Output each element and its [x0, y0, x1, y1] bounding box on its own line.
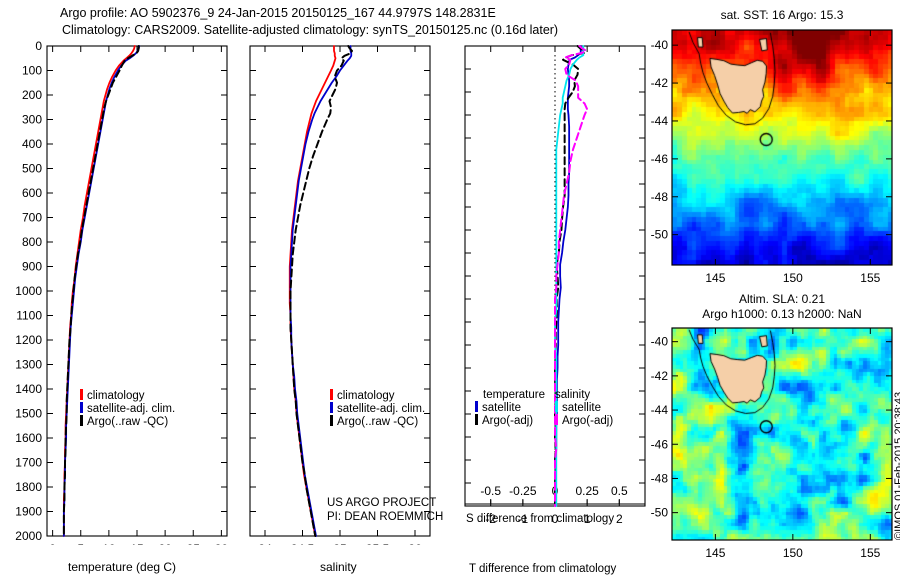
- svg-text:-42: -42: [651, 76, 669, 90]
- legend-swatch-sal-satellite: [555, 401, 558, 412]
- svg-text:155: 155: [860, 546, 880, 560]
- sla-map-title-line1: Altim. SLA: 0.21: [672, 292, 892, 306]
- svg-text:0: 0: [35, 40, 42, 53]
- legend-swatch-sal-argo-adj: [555, 414, 558, 425]
- svg-text:500: 500: [22, 162, 42, 176]
- svg-text:-40: -40: [651, 38, 669, 52]
- svg-text:-46: -46: [651, 437, 669, 451]
- legend-swatch-climatology-sal: [330, 389, 333, 400]
- figure-title-line1: Argo profile: AO 5902376_9 24-Jan-2015 2…: [60, 6, 496, 20]
- difference-panel: -2-1012-0.5-0.2500.250.5: [455, 40, 665, 545]
- svg-text:200: 200: [22, 88, 42, 102]
- svg-text:-48: -48: [651, 471, 669, 485]
- svg-text:5: 5: [77, 542, 84, 545]
- temperature-panel: 0100200300400500600700800900100011001200…: [0, 40, 240, 545]
- svg-text:-46: -46: [651, 152, 669, 166]
- svg-text:1700: 1700: [15, 456, 42, 470]
- svg-text:36: 36: [408, 542, 422, 545]
- sla-map-axes: 145150155-40-42-44-46-48-50: [640, 323, 900, 573]
- svg-text:35.5: 35.5: [366, 542, 390, 545]
- svg-text:-0.25: -0.25: [509, 484, 537, 498]
- legend-item-temp-argo-adj: Argo(-adj): [475, 414, 555, 427]
- svg-text:1100: 1100: [16, 309, 42, 323]
- svg-text:150: 150: [783, 546, 803, 560]
- svg-text:1800: 1800: [15, 480, 42, 494]
- svg-text:-50: -50: [651, 506, 669, 520]
- svg-text:700: 700: [22, 211, 42, 225]
- svg-text:15: 15: [130, 542, 144, 545]
- svg-text:300: 300: [22, 113, 42, 127]
- legend-heading-salinity: salinity: [555, 389, 613, 401]
- figure-title-line2: Climatology: CARS2009. Satellite-adjuste…: [62, 23, 558, 37]
- sst-map-title: sat. SST: 16 Argo: 15.3: [672, 8, 892, 22]
- svg-text:2000: 2000: [15, 529, 42, 543]
- legend-item-climatology: climatology: [80, 389, 175, 402]
- svg-text:-48: -48: [651, 190, 669, 204]
- legend-item-satellite-adj: satellite-adj. clim.: [80, 402, 175, 415]
- legend-item-climatology-sal: climatology: [330, 389, 425, 402]
- svg-text:-44: -44: [651, 114, 669, 128]
- pi-name-text: PI: DEAN ROEMMICH: [327, 511, 443, 523]
- svg-text:1400: 1400: [15, 382, 42, 396]
- legend-swatch-climatology: [80, 389, 83, 400]
- svg-text:400: 400: [22, 137, 42, 151]
- svg-text:30: 30: [215, 542, 229, 545]
- svg-text:155: 155: [860, 271, 880, 285]
- svg-text:1000: 1000: [15, 284, 42, 298]
- argo-profile-figure: Argo profile: AO 5902376_9 24-Jan-2015 2…: [0, 0, 900, 580]
- svg-text:1600: 1600: [15, 431, 42, 445]
- svg-text:0.5: 0.5: [611, 484, 628, 498]
- legend-item-satellite-adj-sal: satellite-adj. clim.: [330, 402, 425, 415]
- svg-text:145: 145: [705, 546, 725, 560]
- svg-text:100: 100: [22, 64, 42, 78]
- svg-text:-44: -44: [651, 403, 669, 417]
- legend-swatch-temp-satellite: [475, 401, 478, 412]
- svg-text:1500: 1500: [15, 407, 42, 421]
- svg-text:25: 25: [187, 542, 201, 545]
- legend-swatch-argo-raw: [80, 415, 83, 426]
- legend-item-temp-satellite: satellite: [475, 401, 555, 414]
- legend-swatch-temp-argo-adj: [475, 414, 478, 425]
- salinity-axis-label: salinity: [320, 560, 357, 574]
- svg-text:-42: -42: [651, 369, 669, 383]
- difference-legend: temperature salinity satellite satellite…: [475, 389, 613, 427]
- legend-swatch-satellite-adj: [80, 402, 83, 413]
- legend-item-argo-raw-sal: Argo(..raw -QC): [330, 415, 425, 428]
- svg-text:600: 600: [22, 186, 42, 200]
- difference-plot: -2-1012-0.5-0.2500.250.5: [455, 40, 665, 545]
- svg-text:2: 2: [616, 512, 623, 526]
- svg-text:1900: 1900: [15, 505, 42, 519]
- sst-map-axes: 145150155-40-42-44-46-48-50: [640, 25, 900, 295]
- svg-text:-50: -50: [651, 228, 669, 242]
- temperature-plot: 0100200300400500600700800900100011001200…: [0, 40, 240, 545]
- legend-item-sal-satellite: satellite: [555, 401, 613, 414]
- svg-text:0.25: 0.25: [575, 484, 599, 498]
- salinity-legend: climatology satellite-adj. clim. Argo(..…: [330, 389, 425, 428]
- legend-swatch-argo-raw-sal: [330, 415, 333, 426]
- svg-text:0: 0: [49, 542, 56, 545]
- svg-text:-40: -40: [651, 335, 669, 349]
- svg-text:145: 145: [705, 271, 725, 285]
- legend-swatch-satellite-adj-sal: [330, 402, 333, 413]
- svg-text:1200: 1200: [15, 333, 42, 347]
- sla-map-title-line2: Argo h1000: 0.13 h2000: NaN: [662, 307, 900, 321]
- svg-text:10: 10: [102, 542, 116, 545]
- temperature-legend: climatology satellite-adj. clim. Argo(..…: [80, 389, 175, 428]
- legend-item-argo-raw: Argo(..raw -QC): [80, 415, 175, 428]
- svg-text:34: 34: [258, 542, 272, 545]
- svg-text:150: 150: [783, 271, 803, 285]
- temperature-axis-label: temperature (deg C): [68, 560, 176, 574]
- us-argo-project-text: US ARGO PROJECT: [327, 497, 436, 509]
- legend-item-sal-argo-adj: Argo(-adj): [555, 414, 613, 427]
- svg-text:-0.5: -0.5: [480, 484, 501, 498]
- copyright-text: ©IMOS 01-Feb-2015 20:38:43: [893, 392, 900, 540]
- svg-text:20: 20: [158, 542, 172, 545]
- svg-text:800: 800: [22, 235, 42, 249]
- salinity-panel: 3434.53535.536: [240, 40, 465, 545]
- salinity-plot: 3434.53535.536: [240, 40, 465, 545]
- svg-text:1300: 1300: [15, 358, 42, 372]
- svg-text:35: 35: [333, 542, 347, 545]
- legend-heading-temperature: temperature: [475, 389, 555, 401]
- t-difference-axis-label: T difference from climatology: [469, 563, 616, 575]
- s-difference-axis-label: S difference from climatology: [466, 513, 614, 525]
- svg-text:34.5: 34.5: [291, 542, 315, 545]
- svg-text:900: 900: [22, 260, 42, 274]
